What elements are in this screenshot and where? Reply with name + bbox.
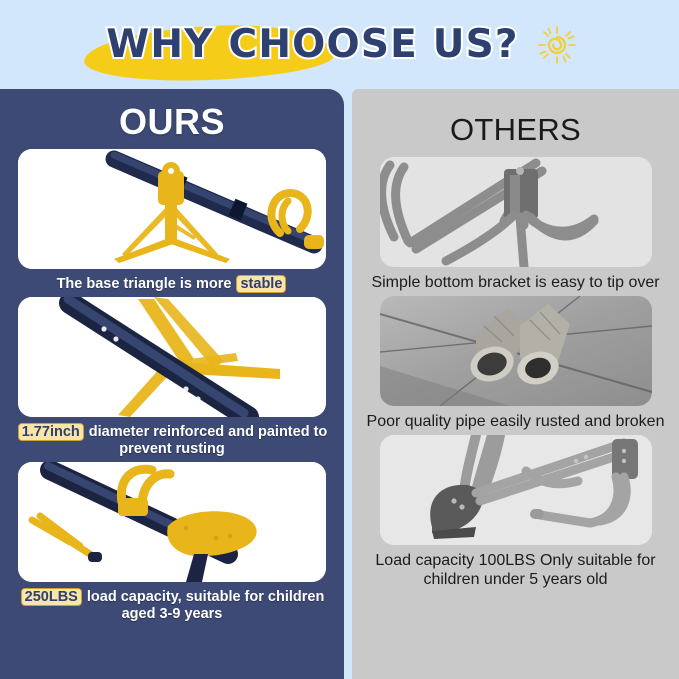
sun-icon: [537, 25, 577, 65]
caption-highlight-stable: stable: [236, 275, 286, 293]
caption-highlight-capacity: 250LBS: [21, 588, 82, 606]
others-heading: OTHERS: [352, 109, 679, 151]
others-caption-3: Load capacity 100LBS Only suitable for c…: [352, 551, 679, 589]
caption-text-plain: Poor quality pipe easily rusted and brok…: [367, 413, 665, 430]
caption-highlight-diameter: 1.77inch: [18, 423, 84, 441]
ours-caption-3: 250LBS load capacity, suitable for child…: [0, 588, 344, 623]
caption-text-plain: The base triangle is more: [57, 276, 236, 292]
comparison-panels: OURS: [0, 89, 679, 679]
ours-caption-2: 1.77inch diameter reinforced and painted…: [0, 423, 344, 458]
others-card-2: Poor quality pipe easily rusted and brok…: [352, 296, 679, 431]
title-group: WHY CHOOSE US?: [102, 22, 523, 67]
others-photo-rusted-pipes: [380, 296, 652, 406]
caption-text-plain: load capacity, suitable for children age…: [83, 589, 324, 622]
page-title: WHY CHOOSE US?: [106, 22, 519, 67]
panel-others: OTHERS: [352, 89, 679, 679]
others-card-3: Load capacity 100LBS Only suitable for c…: [352, 435, 679, 589]
ours-photo-pipe-closeup: [18, 297, 326, 417]
caption-text-plain: diameter reinforced and painted to preve…: [85, 424, 328, 457]
others-card-1: Simple bottom bracket is easy to tip ove…: [352, 157, 679, 292]
ours-caption-1: The base triangle is more stable: [0, 275, 344, 293]
header-banner: WHY CHOOSE US?: [0, 0, 679, 89]
why-choose-us-infographic: WHY CHOOSE US?: [0, 0, 679, 679]
caption-text-plain: Load capacity 100LBS Only suitable for c…: [375, 552, 655, 588]
ours-photo-tripod-base: [18, 149, 326, 269]
ours-photo-seat: [18, 462, 326, 582]
ours-card-1: The base triangle is more stable: [0, 149, 344, 293]
ours-card-list: The base triangle is more stable: [0, 149, 344, 623]
caption-text-plain: Simple bottom bracket is easy to tip ove…: [371, 274, 659, 291]
others-caption-1: Simple bottom bracket is easy to tip ove…: [352, 273, 679, 292]
ours-heading: OURS: [0, 101, 344, 143]
others-photo-frame-seat: [380, 435, 652, 545]
panel-ours: OURS: [0, 89, 344, 679]
others-caption-2: Poor quality pipe easily rusted and brok…: [352, 412, 679, 431]
others-card-list: Simple bottom bracket is easy to tip ove…: [352, 157, 679, 589]
ours-card-2: 1.77inch diameter reinforced and painted…: [0, 297, 344, 458]
others-photo-bracket: [380, 157, 652, 267]
ours-card-3: 250LBS load capacity, suitable for child…: [0, 462, 344, 623]
